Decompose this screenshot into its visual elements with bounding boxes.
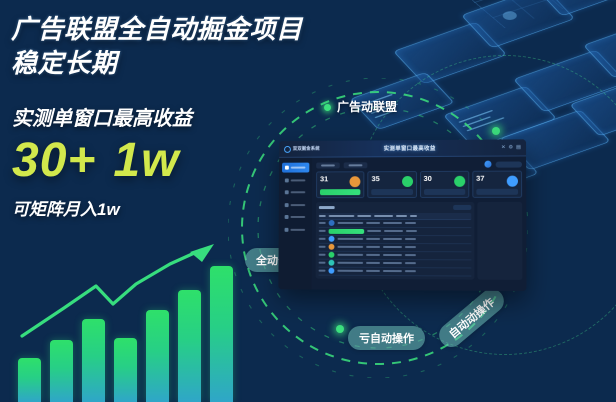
table-column-header [319,212,471,219]
big-number-right: 1w [113,134,179,187]
green-dot-icon [324,104,331,111]
avatar [329,252,335,258]
ring-end-dot [336,325,344,333]
table-title [319,206,335,208]
stat-card-badge [402,176,413,187]
stat-card-button[interactable] [320,189,361,195]
bg-panel-dot [500,10,519,22]
row-status-pill [329,228,365,233]
dashboard-stat-cards: 31353037 [316,171,522,199]
dashboard-side-panel [477,202,522,280]
dashboard-stat-card[interactable]: 31 [316,171,365,198]
headline-line-1: 广告联盟全自动掘金项目 [11,9,303,46]
diagram-pill-bottom: 亏自动操作 [348,326,425,350]
stat-card-button[interactable] [476,188,518,194]
dashboard-stat-card[interactable]: 30 [420,171,470,198]
stat-card-badge [350,176,361,187]
tab-history[interactable] [344,162,368,168]
start-button[interactable] [496,161,522,167]
diagram-top-label: 广告动联盟 [324,98,397,115]
avatar [329,244,335,250]
avatar [329,220,335,226]
close-icon[interactable]: ✕ [501,144,505,150]
avatar [329,236,335,242]
dashboard-stat-card[interactable]: 35 [367,171,416,198]
dashboard-screenshot[interactable]: 双双掘金系统 实测单窗口最高收益 ✕ ⚙ ▤ 31353037 [278,139,526,291]
headline-line-2: 稳定长期 [11,43,117,80]
stat-card-badge [507,176,518,187]
dashboard-tools[interactable]: ✕ ⚙ ▤ [501,144,521,150]
stat-card-button[interactable] [371,189,412,195]
diagram-top-label-text: 广告动联盟 [337,100,397,114]
gear-icon[interactable]: ⚙ [509,144,514,150]
avatar [328,268,334,274]
headline-block: 广告联盟全自动掘金项目 稳定长期 实测单窗口最高收益 30+1w 可矩阵月入1w [0,0,300,402]
refresh-icon[interactable] [484,161,491,168]
dashboard-title: 实测单窗口最高收益 [324,144,498,153]
stat-card-badge [454,176,465,187]
stat-card-button[interactable] [424,188,465,194]
note-text: 可矩阵月入1w [12,195,120,220]
tab-today[interactable] [316,162,340,168]
dashboard-table-area [316,202,523,280]
avatar [328,260,334,266]
dashboard-tabs[interactable] [316,160,522,168]
big-number-left: 30+ [12,134,96,187]
table-header-bar [319,205,471,210]
table-row[interactable] [319,267,472,276]
dashboard-titlebar: 双双掘金系统 实测单窗口最高收益 ✕ ⚙ ▤ [279,139,526,158]
menu-icon[interactable]: ▤ [516,144,521,150]
table-row[interactable] [319,219,472,227]
subtitle-text: 实测单窗口最高收益 [12,102,192,131]
dashboard-stat-card[interactable]: 37 [472,171,522,198]
ring-end-dot [492,127,500,135]
dashboard-body: 31353037 [278,156,526,291]
dashboard-main: 31353037 [312,156,527,291]
big-number-group: 30+1w [12,133,179,188]
poster-root: 广告联盟全自动掘金项目 稳定长期 实测单窗口最高收益 30+1w 可矩阵月入1w… [0,0,616,402]
batch-action-button[interactable] [453,205,471,210]
account-table[interactable] [316,202,475,279]
